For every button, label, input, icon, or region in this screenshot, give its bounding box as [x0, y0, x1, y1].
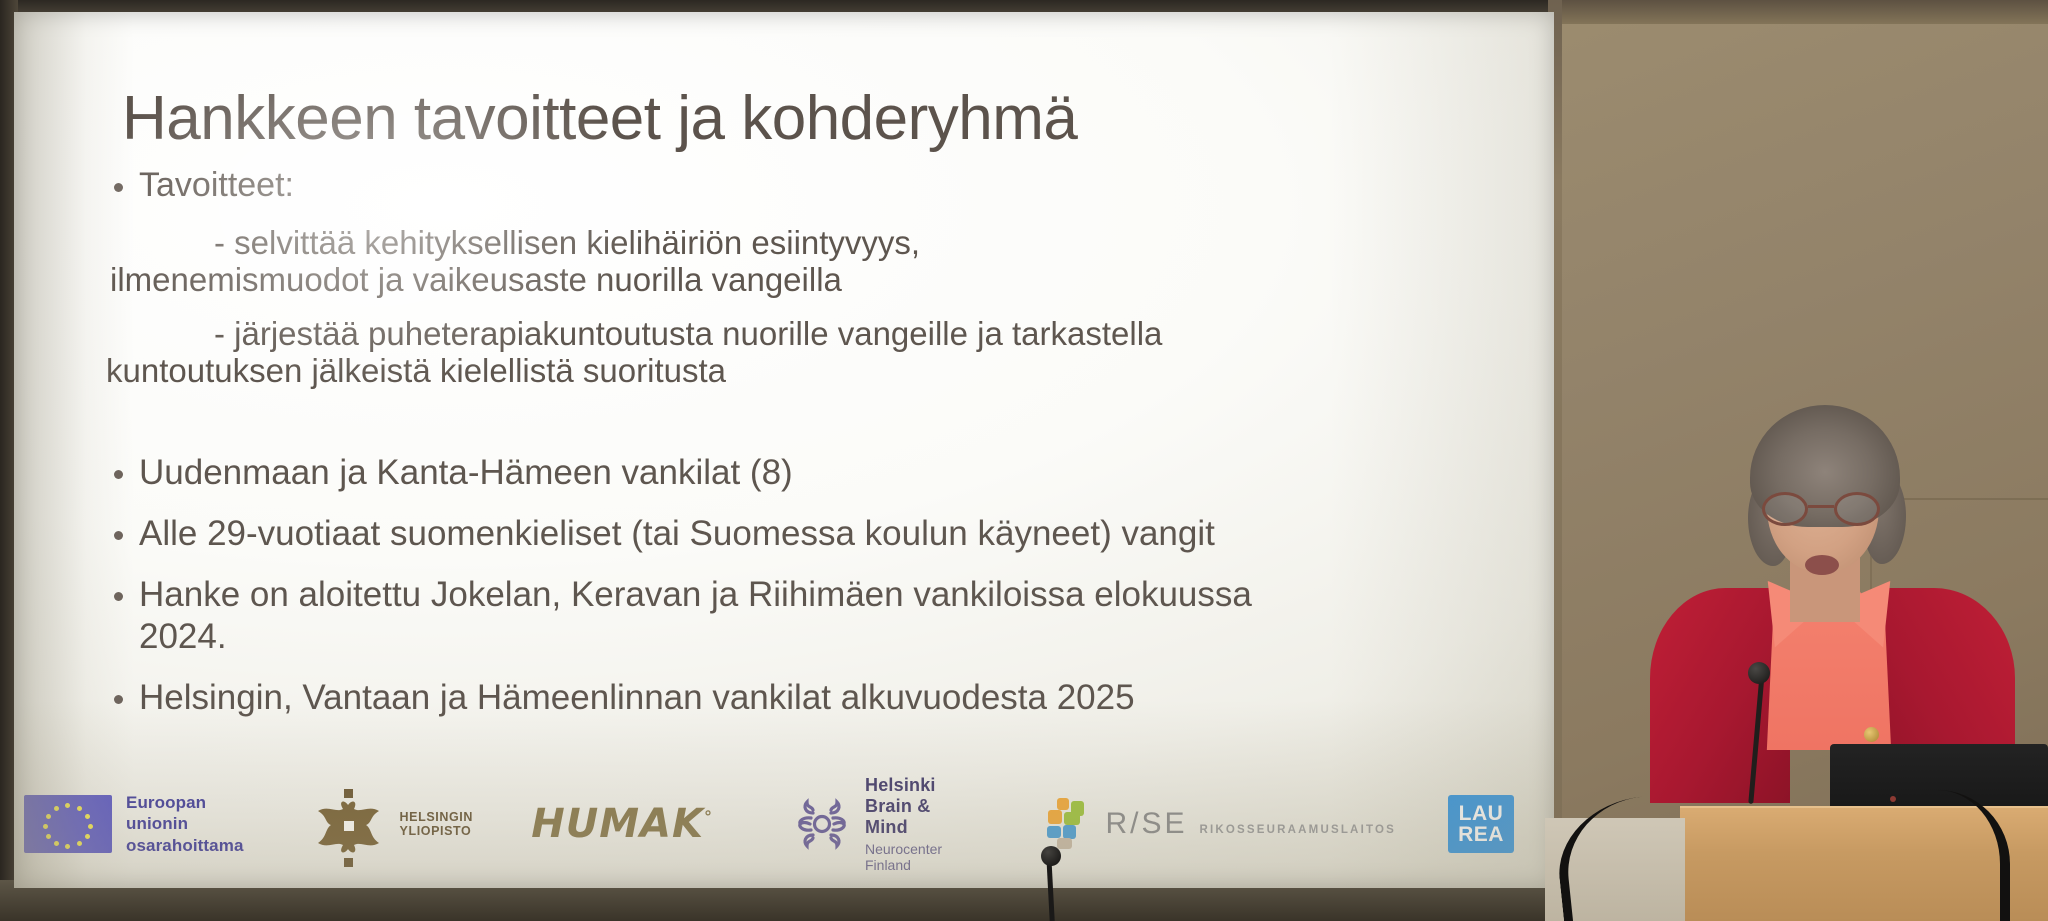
eu-funding-line-1: Euroopan unionin [126, 792, 244, 835]
humak-degree-mark: ° [704, 808, 713, 827]
presentation-slide: Hankkeen tavoitteet ja kohderyhmä Tavoit… [14, 12, 1554, 888]
list-item-text: Helsingin, Vantaan ja Hämeenlinnan vanki… [139, 677, 1135, 720]
bullet-dot-icon [114, 592, 123, 601]
bullet-objectives-label: Tavoitteet: [139, 165, 294, 206]
rise-logo: R/SE RIKOSSEURAAMUSLAITOS [1043, 798, 1396, 850]
sub-item-2-line-2: kuntoutuksen jälkeistä kielellistä suori… [106, 353, 1494, 390]
bullet-dot-icon [114, 531, 123, 540]
list-item-text: Uudenmaan ja Kanta-Hämeen vankilat (8) [139, 452, 793, 495]
presenter-glasses [1762, 492, 1880, 526]
rise-subtitle: RIKOSSEURAAMUSLAITOS [1200, 824, 1397, 836]
helsinki-university-crest-icon [310, 789, 388, 859]
brain-mind-symbol-icon [791, 793, 853, 855]
presenter-cardigan-left [1650, 588, 1790, 803]
bullet-dot-icon [114, 183, 123, 192]
wall-top-strip [1540, 0, 2048, 24]
list-item: Hanke on aloitettu Jokelan, Keravan ja R… [114, 574, 1494, 659]
presenter-lapel-pin [1864, 727, 1879, 742]
spacer [110, 390, 1494, 434]
microphone-head-icon [1748, 662, 1770, 684]
list-item-text: Alle 29-vuotiaat suomenkieliset (tai Suo… [139, 513, 1215, 556]
brain-mind-title: Helsinki Brain & Mind [865, 775, 973, 838]
brain-mind-text: Helsinki Brain & Mind Neurocenter Finlan… [865, 775, 973, 873]
sub-item-1-line-1: - selvittää kehityksellisen kielihäiriön… [214, 225, 1494, 262]
list-item: Uudenmaan ja Kanta-Hämeen vankilat (8) [114, 452, 1494, 495]
eu-funding-line-2: osarahoittama [126, 835, 244, 856]
sub-item-1-line-2: ilmenemismuodot ja vaikeusaste nuorilla … [110, 262, 1494, 299]
rise-wordmark: R/SE RIKOSSEURAAMUSLAITOS [1105, 807, 1396, 841]
floor-microphone-head-icon [1041, 846, 1061, 866]
humak-logo: HUMAK° [531, 801, 713, 847]
sub-item-2: - järjestää puheterapiakuntoutusta nuori… [110, 316, 1494, 390]
brain-mind-subtitle: Neurocenter Finland [865, 841, 973, 873]
sub-item-1: - selvittää kehityksellisen kielihäiriön… [110, 225, 1494, 299]
eu-flag-icon [24, 795, 112, 853]
helsinki-university-logo: HELSINGIN YLIOPISTO [310, 789, 476, 859]
bullet-dot-icon [114, 695, 123, 704]
laurea-line-2: REA [1458, 824, 1504, 845]
list-item-text: Hanke on aloitettu Jokelan, Keravan ja R… [139, 574, 1319, 659]
glasses-lens-right [1834, 492, 1880, 526]
rise-squares-icon [1043, 798, 1095, 850]
eu-funding-logo: Euroopan unionin osarahoittama [24, 792, 244, 856]
glasses-lens-left [1762, 492, 1808, 526]
laurea-logo: LAU REA [1448, 795, 1514, 853]
eu-funding-text: Euroopan unionin osarahoittama [126, 792, 244, 856]
slide-title: Hankkeen tavoitteet ja kohderyhmä [122, 86, 1494, 151]
laurea-line-1: LAU [1459, 803, 1504, 824]
list-item: Alle 29-vuotiaat suomenkieliset (tai Suo… [114, 513, 1494, 556]
bullet-dot-icon [114, 470, 123, 479]
humak-wordmark: HUMAK° [531, 801, 713, 847]
sub-item-2-line-1: - järjestää puheterapiakuntoutusta nuori… [214, 316, 1494, 353]
bullet-list: Uudenmaan ja Kanta-Hämeen vankilat (8) A… [110, 452, 1494, 719]
sponsor-logo-bar: Euroopan unionin osarahoittama HELSINGIN… [14, 776, 1514, 872]
rise-label: R/SE [1105, 807, 1187, 841]
helsinki-brain-mind-logo: Helsinki Brain & Mind Neurocenter Finlan… [791, 775, 973, 873]
list-item: Helsingin, Vantaan ja Hämeenlinnan vanki… [114, 677, 1494, 720]
helsinki-university-label: HELSINGIN YLIOPISTO [400, 810, 476, 838]
conference-room-photo: Hankkeen tavoitteet ja kohderyhmä Tavoit… [0, 0, 2048, 921]
glasses-bridge [1808, 505, 1834, 508]
humak-label: HUMAK [531, 801, 704, 847]
presenter-mouth [1805, 555, 1839, 575]
bullet-objectives: Tavoitteet: [114, 165, 1494, 206]
